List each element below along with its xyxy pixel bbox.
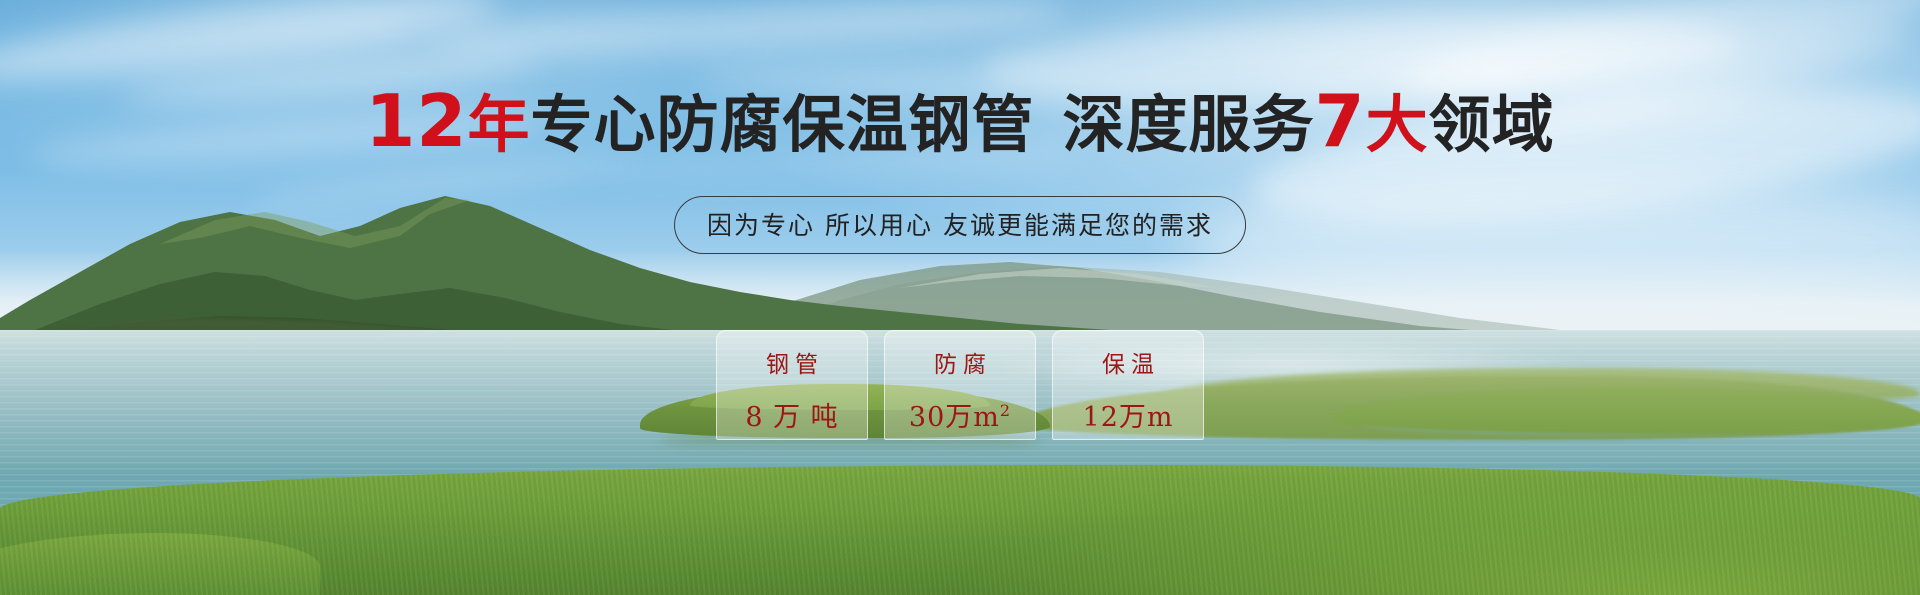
subtitle-pill: 因为专心 所以用心 友诚更能满足您的需求 [674, 196, 1246, 254]
stat-value-base: 8 万 吨 [745, 402, 838, 433]
headline-phrase-one: 专心防腐保温钢管 [531, 88, 1035, 161]
stat-card-value: 12万m [1083, 395, 1174, 434]
headline-years-number: 12 [365, 79, 467, 163]
stat-card-value: 8 万 吨 [745, 395, 838, 434]
headline-phrase-two: 深度服务 [1063, 88, 1315, 161]
stat-card-label: 钢管 [760, 345, 824, 379]
banner-overlay: 12年专心防腐保温钢管深度服务7大领域 因为专心 所以用心 友诚更能满足您的需求… [0, 0, 1920, 595]
promo-banner: 12年专心防腐保温钢管深度服务7大领域 因为专心 所以用心 友诚更能满足您的需求… [0, 0, 1920, 595]
headline-years-unit: 年 [468, 88, 531, 161]
stat-card-anticorrosion: 防腐 30万m2 [884, 330, 1036, 440]
headline-fields-unit: 大 [1366, 88, 1429, 161]
stat-card-label: 防腐 [928, 345, 992, 379]
stat-value-base: 30万m [909, 402, 1000, 433]
stat-value-superscript: 2 [1000, 401, 1011, 420]
page-title: 12年专心防腐保温钢管深度服务7大领域 [0, 85, 1920, 157]
stat-card-label: 保温 [1096, 345, 1160, 379]
headline-phrase-three: 领域 [1429, 88, 1555, 161]
stat-card-insulation: 保温 12万m [1052, 330, 1204, 440]
stat-value-base: 12万m [1083, 402, 1174, 433]
stat-card-steel-pipe: 钢管 8 万 吨 [716, 330, 868, 440]
stat-card-value: 30万m2 [909, 395, 1011, 434]
headline-fields-number: 7 [1315, 79, 1366, 163]
stat-card-group: 钢管 8 万 吨 防腐 30万m2 保温 12万m [716, 330, 1204, 440]
